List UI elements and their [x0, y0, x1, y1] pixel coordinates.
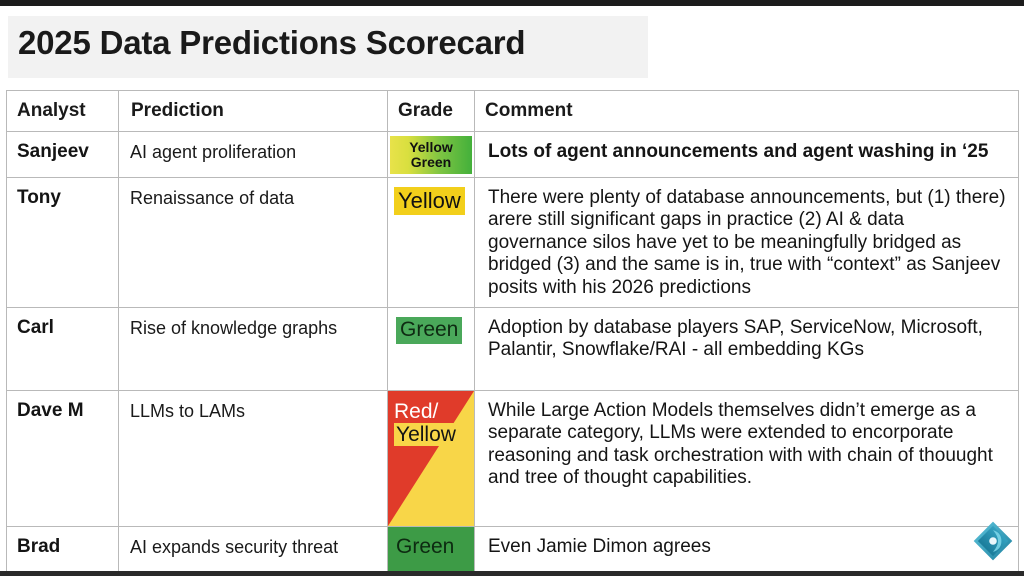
comment-text: Even Jamie Dimon agrees — [475, 527, 1018, 564]
column-header-prediction: Prediction — [119, 91, 388, 132]
prediction-text: AI agent proliferation — [119, 132, 387, 164]
column-header-prediction-label: Prediction — [119, 91, 387, 131]
table-row: Carl Rise of knowledge graphs Green Adop… — [7, 308, 1019, 391]
analyst-cell: Carl — [7, 308, 119, 391]
comment-cell: Even Jamie Dimon agrees — [475, 527, 1019, 573]
table-row: Tony Renaissance of data Yellow There we… — [7, 178, 1019, 308]
grade-cell: Red/ Yellow — [388, 391, 475, 527]
grade-badge-yellow-green: Yellow Green — [390, 136, 472, 174]
grade-badge-yellow: Yellow — [394, 187, 465, 215]
grade-cell: Green — [388, 527, 475, 573]
grade-cell: Yellow — [388, 178, 475, 308]
grade-badge-red-yellow: Red/ Yellow — [388, 391, 474, 526]
page-title: 2025 Data Predictions Scorecard — [18, 24, 525, 62]
analyst-name: Carl — [7, 308, 118, 339]
grade-badge-green: Green — [396, 317, 462, 344]
slide-canvas: 2025 Data Predictions Scorecard Analyst … — [0, 6, 1024, 571]
comment-cell: There were plenty of database announceme… — [475, 178, 1019, 308]
prediction-cell: AI expands security threat — [119, 527, 388, 573]
prediction-cell: Rise of knowledge graphs — [119, 308, 388, 391]
comment-text: Lots of agent announcements and agent wa… — [475, 132, 1018, 169]
analyst-cell: Dave M — [7, 391, 119, 527]
column-header-comment-label: Comment — [475, 91, 1018, 131]
grade-cell: Yellow Green — [388, 132, 475, 178]
analyst-name: Dave M — [7, 391, 118, 422]
prediction-text: Renaissance of data — [119, 178, 387, 210]
grade-label: Green — [396, 535, 454, 559]
grade-cell: Green — [388, 308, 475, 391]
analyst-cell: Brad — [7, 527, 119, 573]
column-header-grade: Grade — [388, 91, 475, 132]
table-header-row: Analyst Prediction Grade Comment — [7, 91, 1019, 132]
table-row: Dave M LLMs to LAMs Red/ Yellow While — [7, 391, 1019, 527]
table-body: Sanjeev AI agent proliferation Yellow Gr… — [7, 132, 1019, 573]
column-header-analyst: Analyst — [7, 91, 119, 132]
grade-label-group: Red/ Yellow — [394, 400, 458, 446]
table-row: Sanjeev AI agent proliferation Yellow Gr… — [7, 132, 1019, 178]
grade-badge-green-fill: Green — [388, 527, 474, 572]
analyst-cell: Tony — [7, 178, 119, 308]
analyst-name: Tony — [7, 178, 118, 209]
bottom-edge-band — [0, 571, 1024, 576]
comment-text: While Large Action Models themselves did… — [475, 391, 1018, 496]
grade-label-line2: Green — [411, 155, 451, 170]
prediction-cell: Renaissance of data — [119, 178, 388, 308]
comment-text: There were plenty of database announceme… — [475, 178, 1018, 305]
grade-label-line1: Red/ — [394, 400, 458, 423]
prediction-text: Rise of knowledge graphs — [119, 308, 387, 340]
comment-cell: Adoption by database players SAP, Servic… — [475, 308, 1019, 391]
comment-cell: Lots of agent announcements and agent wa… — [475, 132, 1019, 178]
prediction-cell: LLMs to LAMs — [119, 391, 388, 527]
prediction-cell: AI agent proliferation — [119, 132, 388, 178]
column-header-analyst-label: Analyst — [7, 91, 118, 131]
table-header: Analyst Prediction Grade Comment — [7, 91, 1019, 132]
grade-label-line1: Yellow — [409, 140, 453, 155]
comment-text: Adoption by database players SAP, Servic… — [475, 308, 1018, 368]
scorecard-table: Analyst Prediction Grade Comment Sanjeev — [6, 90, 1019, 573]
grade-label-line2: Yellow — [394, 423, 458, 446]
prediction-text: AI expands security threat — [119, 527, 387, 559]
analyst-name: Brad — [7, 527, 118, 558]
comment-cell: While Large Action Models themselves did… — [475, 391, 1019, 527]
analyst-cell: Sanjeev — [7, 132, 119, 178]
analyst-name: Sanjeev — [7, 132, 118, 163]
table-row: Brad AI expands security threat Green Ev… — [7, 527, 1019, 573]
column-header-comment: Comment — [475, 91, 1019, 132]
prediction-text: LLMs to LAMs — [119, 391, 387, 423]
column-header-grade-label: Grade — [388, 91, 474, 131]
diamond-logo — [972, 520, 1014, 562]
